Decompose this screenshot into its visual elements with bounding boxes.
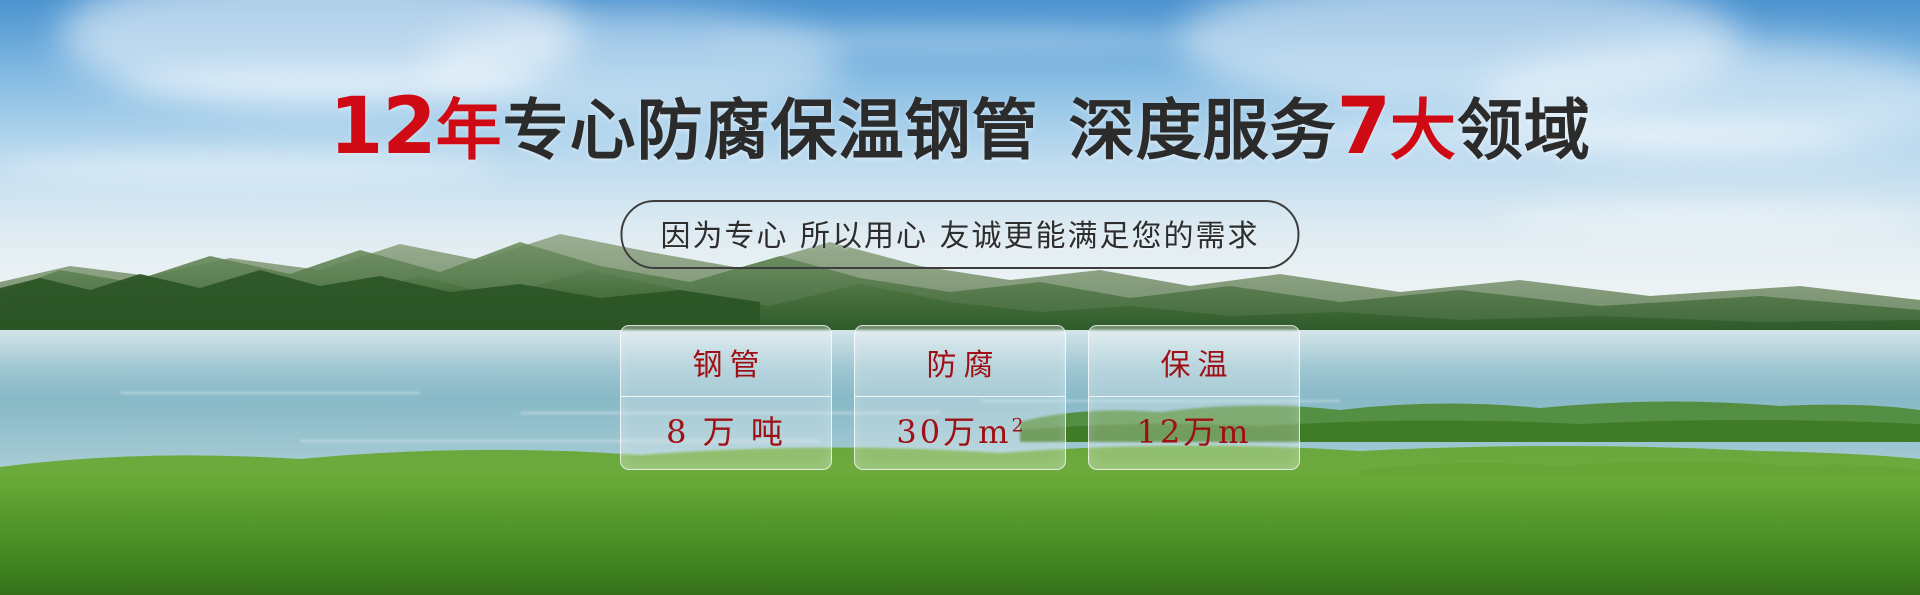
headline-service-text: 深度服务 bbox=[1069, 92, 1337, 169]
stat-card-divider bbox=[855, 396, 1065, 397]
headline-main-text: 专心防腐保温钢管 bbox=[503, 92, 1039, 169]
headline: 12年专心防腐保温钢管深度服务7大领域 bbox=[0, 88, 1920, 166]
stat-card-value-sup: 2 bbox=[1011, 414, 1023, 436]
stat-card-value: 30万m2 bbox=[896, 407, 1023, 453]
stat-card-title: 钢管 bbox=[686, 340, 767, 384]
stat-card-title: 防腐 bbox=[920, 340, 1001, 384]
stat-card-value: 8 万 吨 bbox=[666, 407, 786, 453]
grass-foreground bbox=[0, 475, 1920, 595]
headline-years-unit: 年 bbox=[436, 92, 503, 169]
water-ripple bbox=[120, 392, 420, 394]
stat-card-value-text: 12万m bbox=[1136, 413, 1251, 451]
stat-card-divider bbox=[621, 396, 831, 397]
stat-card-steel-pipe: 钢管 8 万 吨 bbox=[620, 325, 832, 470]
stat-card-value-text: 8 万 吨 bbox=[666, 413, 786, 451]
stat-card-insulation: 保温 12万m bbox=[1088, 325, 1300, 470]
headline-fields-unit: 大 bbox=[1390, 92, 1457, 169]
stat-card-value: 12万m bbox=[1136, 407, 1251, 453]
subtitle-pill: 因为专心 所以用心 友诚更能满足您的需求 bbox=[620, 200, 1299, 269]
stat-card-divider bbox=[1089, 396, 1299, 397]
stat-card-anticorrosion: 防腐 30万m2 bbox=[854, 325, 1066, 470]
headline-fields-tail: 领域 bbox=[1457, 92, 1591, 169]
stat-card-value-text: 30万m bbox=[896, 413, 1011, 451]
headline-years-number: 12 bbox=[329, 82, 436, 172]
stat-cards: 钢管 8 万 吨 防腐 30万m2 保温 12万m bbox=[620, 325, 1300, 470]
hero-banner: 12年专心防腐保温钢管深度服务7大领域 因为专心 所以用心 友诚更能满足您的需求… bbox=[0, 0, 1920, 595]
stat-card-title: 保温 bbox=[1154, 340, 1235, 384]
headline-fields-number: 7 bbox=[1337, 82, 1390, 172]
